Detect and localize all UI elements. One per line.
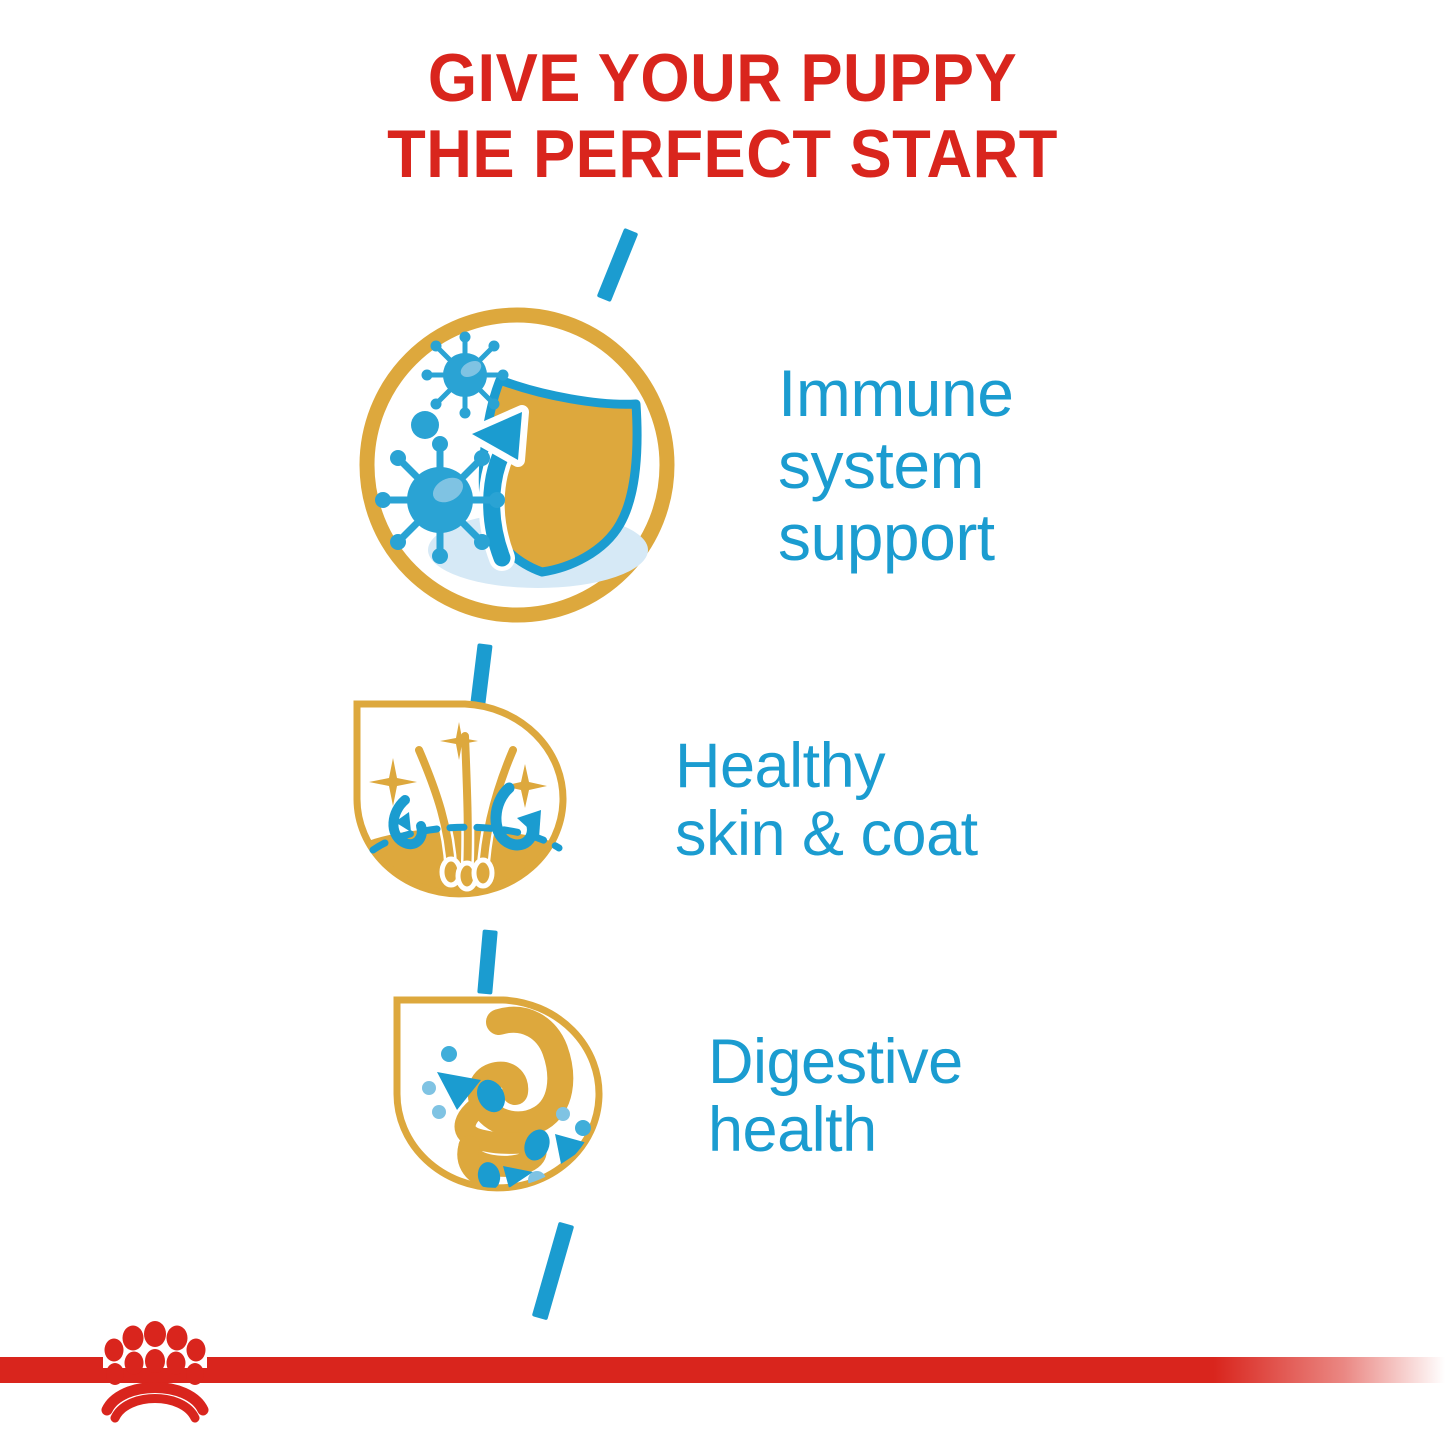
feature-label-immune-line-3: support [778,501,1013,573]
brand-bar [0,1357,1445,1383]
feature-label-digest: Digestive health [708,1028,963,1164]
connector-dash-top [597,228,639,302]
feature-label-immune-line-2: system [778,429,1013,501]
feature-row-skin: Healthy skin & coat [345,692,978,907]
page-title: GIVE YOUR PUPPY THE PERFECT START [51,40,1395,192]
feature-label-digest-line-1: Digestive [708,1028,963,1096]
connector-dash-mid-2 [477,929,498,994]
digestive-stomach-icon [385,988,620,1203]
feature-label-skin-line-1: Healthy [675,732,978,800]
feature-label-immune: Immune system support [778,357,1013,573]
feature-row-immune: Immune system support [352,300,1013,630]
headline-line-2: THE PERFECT START [51,116,1395,192]
feature-row-digest: Digestive health [385,988,963,1203]
skin-coat-follicle-icon [345,692,585,907]
immune-shield-icon [352,300,682,630]
connector-dash-bottom [532,1222,574,1321]
poster-canvas: GIVE YOUR PUPPY THE PERFECT START [0,0,1445,1445]
feature-label-skin-line-2: skin & coat [675,800,978,868]
feature-label-skin: Healthy skin & coat [675,732,978,868]
feature-label-immune-line-1: Immune [778,357,1013,429]
feature-label-digest-line-2: health [708,1096,963,1164]
royal-canin-crown-logo [95,1318,215,1428]
headline-line-1: GIVE YOUR PUPPY [51,40,1395,116]
